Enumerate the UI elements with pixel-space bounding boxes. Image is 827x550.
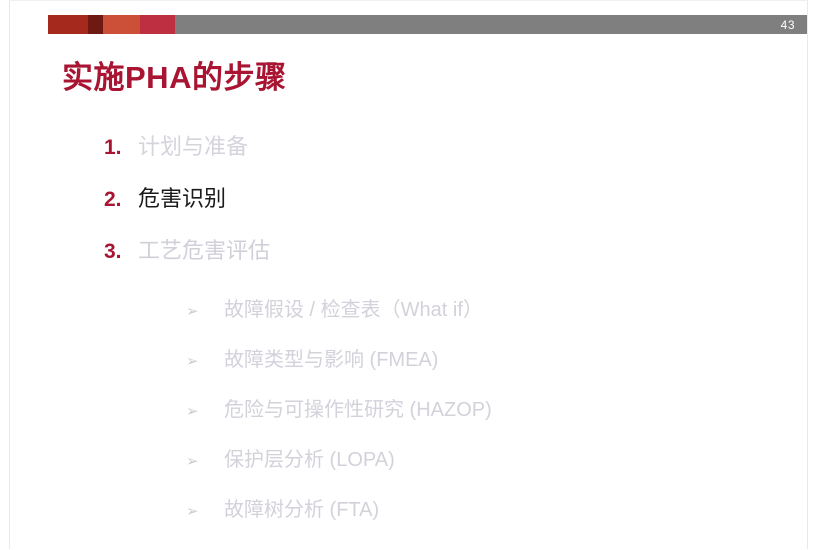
slide-title: 实施PHA的步骤	[62, 59, 286, 98]
slide-header-banner: 43	[48, 15, 807, 34]
sub-item-lopa[interactable]: ➢ 保护层分析 (LOPA)	[186, 450, 806, 500]
page-number: 43	[781, 19, 795, 31]
arrow-bullet-icon: ➢	[186, 504, 224, 519]
arrow-bullet-icon: ➢	[186, 404, 224, 419]
banner-segment-crimson	[140, 15, 175, 34]
arrow-bullet-icon: ➢	[186, 454, 224, 469]
banner-segment-gray: 43	[175, 15, 807, 34]
banner-segment-dark-maroon	[88, 15, 103, 34]
slide-canvas: 43 实施PHA的步骤 1. 计划与准备 2. 危害识别 3. 工艺危害评估 ➢…	[0, 0, 827, 549]
banner-segment-orange-red	[103, 15, 140, 34]
step-item-1[interactable]: 1. 计划与准备	[104, 136, 764, 188]
sub-item-label: 故障树分析 (FTA)	[224, 500, 379, 520]
arrow-bullet-icon: ➢	[186, 354, 224, 369]
sub-item-label: 故障类型与影响 (FMEA)	[224, 350, 438, 370]
step-label-1: 计划与准备	[138, 136, 248, 158]
sub-item-fta[interactable]: ➢ 故障树分析 (FTA)	[186, 500, 806, 550]
step-item-3[interactable]: 3. 工艺危害评估	[104, 240, 764, 292]
sub-item-fmea[interactable]: ➢ 故障类型与影响 (FMEA)	[186, 350, 806, 400]
step-item-2[interactable]: 2. 危害识别	[104, 188, 764, 240]
banner-segment-brick-red	[48, 15, 88, 34]
step-number-2: 2.	[104, 189, 138, 210]
steps-list: 1. 计划与准备 2. 危害识别 3. 工艺危害评估	[104, 136, 764, 292]
arrow-bullet-icon: ➢	[186, 304, 224, 319]
step-number-1: 1.	[104, 137, 138, 158]
sub-item-label: 故障假设 / 检查表（What if）	[224, 300, 483, 320]
step-number-3: 3.	[104, 241, 138, 262]
sub-item-label: 危险与可操作性研究 (HAZOP)	[224, 400, 492, 420]
sub-item-label: 保护层分析 (LOPA)	[224, 450, 395, 470]
sub-item-hazop[interactable]: ➢ 危险与可操作性研究 (HAZOP)	[186, 400, 806, 450]
sub-item-what-if[interactable]: ➢ 故障假设 / 检查表（What if）	[186, 300, 806, 350]
sub-items-list: ➢ 故障假设 / 检查表（What if） ➢ 故障类型与影响 (FMEA) ➢…	[186, 300, 806, 550]
step-label-3: 工艺危害评估	[138, 240, 270, 262]
step-label-2: 危害识别	[138, 188, 226, 210]
